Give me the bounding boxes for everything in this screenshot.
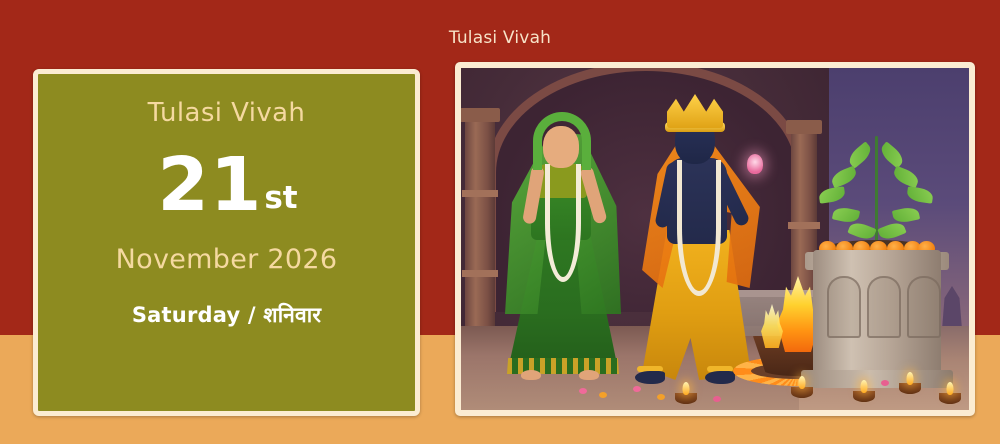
leaf-icon	[847, 220, 876, 243]
diya-flame	[861, 380, 868, 393]
planter-carving	[867, 276, 901, 338]
bride-head-veil	[533, 112, 591, 170]
tulasi-stem	[875, 136, 878, 244]
bride-foot-right	[579, 370, 599, 380]
festival-name: Tulasi Vivah	[38, 98, 415, 128]
leaf-icon	[877, 220, 906, 243]
leaf-icon	[818, 186, 846, 203]
planter-carving	[827, 276, 861, 338]
lotus-icon	[747, 154, 763, 174]
petal-icon	[579, 388, 587, 394]
leaf-icon	[878, 141, 907, 168]
page-root: Tulasi Vivah Tulasi Vivah 21st November …	[0, 0, 1000, 444]
crown-icon	[667, 94, 723, 128]
petal-icon	[657, 394, 665, 400]
petal-icon	[633, 386, 641, 392]
bride-figure	[503, 112, 623, 374]
pillar-band	[462, 270, 498, 277]
leaf-icon	[846, 141, 875, 168]
ceremony-scene	[461, 68, 969, 410]
diya-flame	[947, 382, 954, 395]
petal-icon	[881, 380, 889, 386]
month-year: November 2026	[38, 244, 415, 275]
leaf-icon	[906, 186, 934, 203]
date-day-row: 21st	[38, 148, 415, 222]
pillar-capital	[461, 108, 500, 122]
bride-foot-left	[521, 370, 541, 380]
date-card-content: Tulasi Vivah 21st November 2026 Saturday…	[38, 74, 415, 411]
diya-icon	[853, 391, 875, 402]
leaf-icon	[892, 205, 920, 224]
diya-icon	[899, 383, 921, 394]
date-card[interactable]: Tulasi Vivah 21st November 2026 Saturday…	[33, 69, 420, 416]
weekday-bilingual: Saturday / शनिवार	[38, 301, 415, 329]
vishnu-foot-left	[635, 371, 665, 384]
leaf-icon	[891, 166, 920, 189]
diya-flame	[907, 372, 914, 385]
planter-base	[801, 370, 953, 388]
diya-icon	[939, 393, 961, 404]
petal-icon	[713, 396, 721, 402]
page-title: Tulasi Vivah	[0, 28, 1000, 48]
illustration-card[interactable]	[455, 62, 975, 416]
diya-icon	[791, 387, 813, 398]
pillar-band	[462, 190, 498, 197]
planter-carving	[907, 276, 941, 338]
petal-icon	[599, 392, 607, 398]
vishnu-garland	[677, 160, 721, 296]
leaf-icon	[832, 205, 860, 224]
day-ordinal-suffix: st	[264, 180, 297, 216]
bride-garland	[545, 164, 581, 282]
tulasi-plant-group	[803, 112, 953, 388]
day-number: 21	[157, 142, 262, 228]
vishnu-foot-right	[705, 371, 735, 384]
leaf-icon	[829, 166, 858, 189]
diya-flame	[683, 382, 690, 395]
stone-planter	[813, 250, 941, 378]
diya-flame	[799, 376, 806, 389]
diya-icon	[675, 393, 697, 404]
